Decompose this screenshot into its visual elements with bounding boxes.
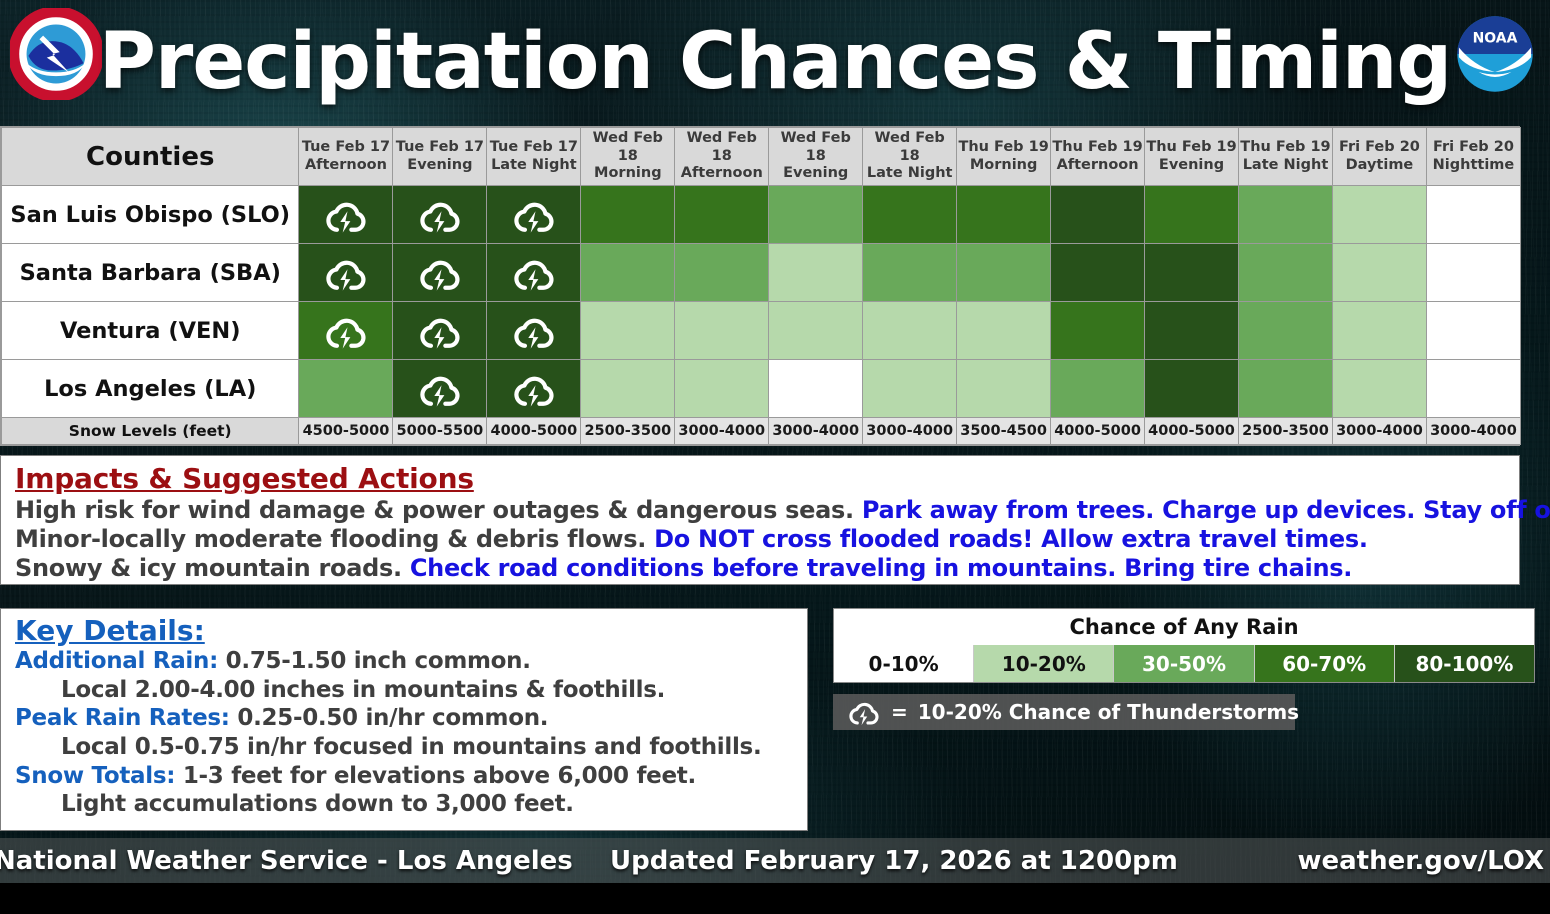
suggested-action-text: Park away from trees. Charge up devices.… xyxy=(862,496,1550,524)
period-header-1: Tue Feb 17Evening xyxy=(393,128,487,186)
forecast-cell-r1-c10 xyxy=(1239,244,1333,302)
footer-updated: Updated February 17, 2026 at 1200pm xyxy=(610,846,1178,876)
period-header-3: Wed Feb 18Morning xyxy=(581,128,675,186)
period-day: Thu Feb 19 xyxy=(1240,139,1330,155)
impact-text: High risk for wind damage & power outage… xyxy=(15,496,862,524)
period-header-9: Thu Feb 19Evening xyxy=(1145,128,1239,186)
legend-swatch-4: 80-100% xyxy=(1394,645,1534,682)
snow-level-value-1: 5000-5500 xyxy=(393,418,487,445)
forecast-cell-r2-c1 xyxy=(393,302,487,360)
period-day: Tue Feb 17 xyxy=(302,139,390,155)
footer-bar: National Weather Service - Los Angeles U… xyxy=(0,838,1550,883)
period-header-4: Wed Feb 18Afternoon xyxy=(675,128,769,186)
county-label-1: Santa Barbara (SBA) xyxy=(2,244,299,302)
period-header-0: Tue Feb 17Afternoon xyxy=(299,128,393,186)
forecast-cell-r3-c6 xyxy=(863,360,957,418)
key-detail-value: 1-3 feet for elevations above 6,000 feet… xyxy=(175,763,696,789)
forecast-cell-r0-c5 xyxy=(769,186,863,244)
period-part: Afternoon xyxy=(300,157,391,175)
key-detail-line-4: Snow Totals: 1-3 feet for elevations abo… xyxy=(15,762,795,791)
impact-line-2: Snowy & icy mountain roads. Check road c… xyxy=(15,554,1505,583)
impact-text: Snowy & icy mountain roads. xyxy=(15,554,410,582)
forecast-cell-r1-c7 xyxy=(957,244,1051,302)
legend-swatch-0: 0-10% xyxy=(834,645,973,682)
thunderstorm-icon xyxy=(511,195,557,235)
forecast-cell-r1-c11 xyxy=(1332,244,1426,302)
forecast-cell-r3-c2 xyxy=(487,360,581,418)
period-day: Wed Feb 18 xyxy=(875,130,945,164)
impact-text: Minor-locally moderate flooding & debris… xyxy=(15,525,654,553)
period-header-2: Tue Feb 17Late Night xyxy=(487,128,581,186)
snow-level-value-10: 2500-3500 xyxy=(1239,418,1333,445)
forecast-cell-r3-c11 xyxy=(1332,360,1426,418)
period-day: Thu Feb 19 xyxy=(1052,139,1142,155)
legend-swatch-row: 0-10%10-20%30-50%60-70%80-100% xyxy=(834,645,1534,682)
key-details-lines: Additional Rain: 0.75-1.50 inch common.L… xyxy=(15,647,795,819)
table-row: San Luis Obispo (SLO) xyxy=(2,186,1521,244)
key-detail-value: Local 2.00-4.00 inches in mountains & fo… xyxy=(61,677,665,703)
snow-level-value-11: 3000-4000 xyxy=(1332,418,1426,445)
legend-title: Chance of Any Rain xyxy=(834,609,1534,645)
impact-line-1: Minor-locally moderate flooding & debris… xyxy=(15,525,1505,554)
bottom-edge-strip xyxy=(0,883,1550,914)
key-detail-value: Light accumulations down to 3,000 feet. xyxy=(61,791,574,817)
forecast-cell-r0-c2 xyxy=(487,186,581,244)
forecast-cell-r1-c4 xyxy=(675,244,769,302)
forecast-cell-r3-c5 xyxy=(769,360,863,418)
key-detail-line-5: Light accumulations down to 3,000 feet. xyxy=(15,790,795,819)
snow-level-value-5: 3000-4000 xyxy=(769,418,863,445)
period-part: Late Night xyxy=(1240,157,1331,175)
suggested-action-text: Do NOT cross flooded roads! Allow extra … xyxy=(654,525,1368,553)
period-part: Morning xyxy=(582,165,673,183)
impact-line-0: High risk for wind damage & power outage… xyxy=(15,496,1505,525)
forecast-cell-r3-c1 xyxy=(393,360,487,418)
period-header-11: Fri Feb 20Daytime xyxy=(1332,128,1426,186)
forecast-cell-r0-c8 xyxy=(1051,186,1145,244)
legend-equals-sign: = xyxy=(891,700,908,724)
table-header-row: Counties Tue Feb 17AfternoonTue Feb 17Ev… xyxy=(2,128,1521,186)
forecast-cell-r2-c7 xyxy=(957,302,1051,360)
impacts-lines: High risk for wind damage & power outage… xyxy=(15,496,1505,583)
key-detail-label: Peak Rain Rates: xyxy=(15,705,230,731)
county-label-0: San Luis Obispo (SLO) xyxy=(2,186,299,244)
forecast-cell-r1-c9 xyxy=(1145,244,1239,302)
period-part: Morning xyxy=(958,157,1049,175)
period-day: Tue Feb 17 xyxy=(490,139,578,155)
forecast-cell-r2-c3 xyxy=(581,302,675,360)
forecast-cell-r1-c12 xyxy=(1426,244,1520,302)
legend-swatch-2: 30-50% xyxy=(1113,645,1253,682)
thunderstorm-icon xyxy=(511,311,557,351)
key-detail-label: Additional Rain: xyxy=(15,648,218,674)
page-title: Precipitation Chances & Timing xyxy=(0,0,1550,124)
forecast-cell-r0-c10 xyxy=(1239,186,1333,244)
snow-levels-row: Snow Levels (feet)4500-50005000-55004000… xyxy=(2,418,1521,445)
snow-level-value-12: 3000-4000 xyxy=(1426,418,1520,445)
county-label-2: Ventura (VEN) xyxy=(2,302,299,360)
forecast-cell-r0-c1 xyxy=(393,186,487,244)
period-day: Fri Feb 20 xyxy=(1339,139,1420,155)
forecast-cell-r2-c0 xyxy=(299,302,393,360)
period-part: Evening xyxy=(1146,157,1237,175)
key-detail-value: 0.75-1.50 inch common. xyxy=(218,648,531,674)
forecast-cell-r3-c8 xyxy=(1051,360,1145,418)
snow-level-value-0: 4500-5000 xyxy=(299,418,393,445)
thunderstorm-icon xyxy=(511,369,557,409)
period-header-7: Thu Feb 19Morning xyxy=(957,128,1051,186)
forecast-cell-r0-c9 xyxy=(1145,186,1239,244)
forecast-cell-r1-c6 xyxy=(863,244,957,302)
county-label-3: Los Angeles (LA) xyxy=(2,360,299,418)
suggested-action-text: Check road conditions before traveling i… xyxy=(410,554,1352,582)
forecast-cell-r3-c9 xyxy=(1145,360,1239,418)
period-part: Late Night xyxy=(488,157,579,175)
period-header-12: Fri Feb 20Nighttime xyxy=(1426,128,1520,186)
header-bar: Precipitation Chances & Timing NOAA xyxy=(0,0,1550,124)
thunderstorm-icon xyxy=(323,195,369,235)
forecast-cell-r1-c0 xyxy=(299,244,393,302)
forecast-cell-r2-c4 xyxy=(675,302,769,360)
snow-level-value-7: 3500-4500 xyxy=(957,418,1051,445)
period-part: Daytime xyxy=(1334,157,1425,175)
key-detail-line-1: Local 2.00-4.00 inches in mountains & fo… xyxy=(15,676,795,705)
forecast-cell-r3-c3 xyxy=(581,360,675,418)
period-part: Nighttime xyxy=(1428,157,1519,175)
forecast-cell-r0-c6 xyxy=(863,186,957,244)
thunderstorm-icon xyxy=(417,195,463,235)
forecast-cell-r0-c7 xyxy=(957,186,1051,244)
period-day: Thu Feb 19 xyxy=(958,139,1048,155)
forecast-cell-r0-c3 xyxy=(581,186,675,244)
forecast-cell-r1-c1 xyxy=(393,244,487,302)
table-row: Ventura (VEN) xyxy=(2,302,1521,360)
period-header-8: Thu Feb 19Afternoon xyxy=(1051,128,1145,186)
precipitation-table-wrapper: Counties Tue Feb 17AfternoonTue Feb 17Ev… xyxy=(0,126,1520,446)
period-header-10: Thu Feb 19Late Night xyxy=(1239,128,1333,186)
table-row: Santa Barbara (SBA) xyxy=(2,244,1521,302)
forecast-cell-r2-c11 xyxy=(1332,302,1426,360)
forecast-cell-r2-c6 xyxy=(863,302,957,360)
thunderstorm-icon xyxy=(417,311,463,351)
forecast-cell-r3-c12 xyxy=(1426,360,1520,418)
snow-level-value-8: 4000-5000 xyxy=(1051,418,1145,445)
noaa-logo: NOAA xyxy=(1454,13,1536,95)
forecast-cell-r3-c7 xyxy=(957,360,1051,418)
forecast-cell-r3-c0 xyxy=(299,360,393,418)
legend-swatch-3: 60-70% xyxy=(1254,645,1394,682)
key-detail-label: Snow Totals: xyxy=(15,763,175,789)
forecast-cell-r2-c2 xyxy=(487,302,581,360)
precipitation-table: Counties Tue Feb 17AfternoonTue Feb 17Ev… xyxy=(1,127,1521,445)
period-day: Wed Feb 18 xyxy=(781,130,851,164)
period-day: Tue Feb 17 xyxy=(396,139,484,155)
period-header-6: Wed Feb 18Late Night xyxy=(863,128,957,186)
key-detail-value: Local 0.5-0.75 in/hr focused in mountain… xyxy=(61,734,761,760)
thunderstorm-icon xyxy=(323,253,369,293)
forecast-cell-r1-c5 xyxy=(769,244,863,302)
thunderstorm-icon xyxy=(323,311,369,351)
period-part: Afternoon xyxy=(676,165,767,183)
forecast-cell-r0-c12 xyxy=(1426,186,1520,244)
key-details-heading: Key Details: xyxy=(15,614,795,647)
forecast-cell-r1-c2 xyxy=(487,244,581,302)
forecast-cell-r0-c11 xyxy=(1332,186,1426,244)
impacts-heading: Impacts & Suggested Actions xyxy=(15,462,1505,495)
forecast-cell-r2-c5 xyxy=(769,302,863,360)
key-detail-line-3: Local 0.5-0.75 in/hr focused in mountain… xyxy=(15,733,795,762)
key-detail-line-0: Additional Rain: 0.75-1.50 inch common. xyxy=(15,647,795,676)
forecast-cell-r3-c4 xyxy=(675,360,769,418)
thunderstorm-legend: = 10-20% Chance of Thunderstorms xyxy=(833,694,1295,730)
period-day: Wed Feb 18 xyxy=(687,130,757,164)
forecast-cell-r0-c4 xyxy=(675,186,769,244)
impacts-panel: Impacts & Suggested Actions High risk fo… xyxy=(0,455,1520,585)
period-part: Evening xyxy=(770,165,861,183)
table-row: Los Angeles (LA) xyxy=(2,360,1521,418)
svg-text:NOAA: NOAA xyxy=(1473,31,1518,47)
period-day: Thu Feb 19 xyxy=(1146,139,1236,155)
footer-office: National Weather Service - Los Angeles xyxy=(0,846,573,876)
forecast-cell-r2-c10 xyxy=(1239,302,1333,360)
snow-level-value-4: 3000-4000 xyxy=(675,418,769,445)
forecast-cell-r2-c8 xyxy=(1051,302,1145,360)
forecast-cell-r2-c12 xyxy=(1426,302,1520,360)
thunderstorm-icon xyxy=(847,697,881,727)
period-header-5: Wed Feb 18Evening xyxy=(769,128,863,186)
forecast-cell-r0-c0 xyxy=(299,186,393,244)
footer-website[interactable]: weather.gov/LOX xyxy=(1297,846,1544,876)
thunderstorm-legend-label: 10-20% Chance of Thunderstorms xyxy=(918,700,1299,724)
forecast-cell-r1-c3 xyxy=(581,244,675,302)
period-part: Evening xyxy=(394,157,485,175)
snow-level-value-3: 2500-3500 xyxy=(581,418,675,445)
county-column-header: Counties xyxy=(2,128,299,186)
thunderstorm-icon xyxy=(511,253,557,293)
thunderstorm-icon xyxy=(417,253,463,293)
snow-level-value-2: 4000-5000 xyxy=(487,418,581,445)
key-details-panel: Key Details: Additional Rain: 0.75-1.50 … xyxy=(0,608,808,831)
snow-level-value-6: 3000-4000 xyxy=(863,418,957,445)
period-day: Wed Feb 18 xyxy=(593,130,663,164)
period-part: Late Night xyxy=(864,165,955,183)
period-part: Afternoon xyxy=(1052,157,1143,175)
period-day: Fri Feb 20 xyxy=(1433,139,1514,155)
key-detail-value: 0.25-0.50 in/hr common. xyxy=(230,705,549,731)
legend-swatch-1: 10-20% xyxy=(973,645,1113,682)
forecast-cell-r1-c8 xyxy=(1051,244,1145,302)
thunderstorm-icon xyxy=(417,369,463,409)
rain-chance-legend: Chance of Any Rain 0-10%10-20%30-50%60-7… xyxy=(833,608,1535,683)
key-detail-line-2: Peak Rain Rates: 0.25-0.50 in/hr common. xyxy=(15,704,795,733)
forecast-cell-r3-c10 xyxy=(1239,360,1333,418)
snow-levels-label: Snow Levels (feet) xyxy=(2,418,299,445)
forecast-cell-r2-c9 xyxy=(1145,302,1239,360)
snow-level-value-9: 4000-5000 xyxy=(1145,418,1239,445)
precipitation-graphic: Precipitation Chances & Timing NOAA Coun… xyxy=(0,0,1550,914)
